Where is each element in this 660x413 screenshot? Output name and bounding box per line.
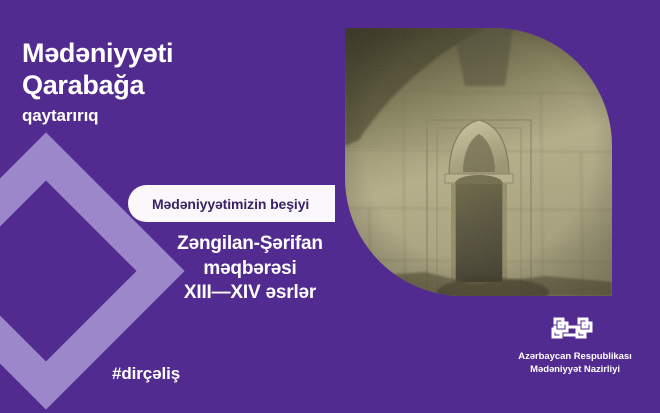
caption-line-2: məqbərəsi: [140, 257, 360, 282]
monument-photo: [345, 28, 612, 296]
pill-label: Mədəniyyətimizin beşiyi: [152, 196, 309, 212]
ministry-name-line-2: Mədəniyyət Nazirliyi: [500, 364, 650, 377]
caption-line-3: XIII—XIV əsrlər: [140, 281, 360, 306]
caption-line-1: Zəngilan-Şərifan: [140, 232, 360, 257]
campaign-hashtag: #dirçəliş: [112, 364, 180, 384]
monument-caption: Zəngilan-Şərifan məqbərəsi XIII—XIV əsrl…: [140, 232, 360, 306]
ministry-name-line-1: Azərbaycan Respublikası: [500, 351, 650, 364]
azerbaijan-culture-knot-icon: [550, 314, 600, 346]
monument-photo-image: [345, 28, 612, 296]
headline-line-2: Qarabağa: [22, 70, 322, 102]
headline-line-1: Mədəniyyəti: [22, 38, 322, 70]
ministry-logo: Azərbaycan Respublikası Mədəniyyət Nazir…: [500, 314, 650, 377]
page-title: Mədəniyyəti Qarabağa qaytarırıq: [22, 38, 322, 126]
headline-line-3: qaytarırıq: [22, 106, 322, 126]
status-badge: Mədəniyyətimizin beşiyi: [128, 185, 335, 222]
poster-banner: Mədəniyyəti Qarabağa qaytarırıq: [0, 0, 660, 413]
